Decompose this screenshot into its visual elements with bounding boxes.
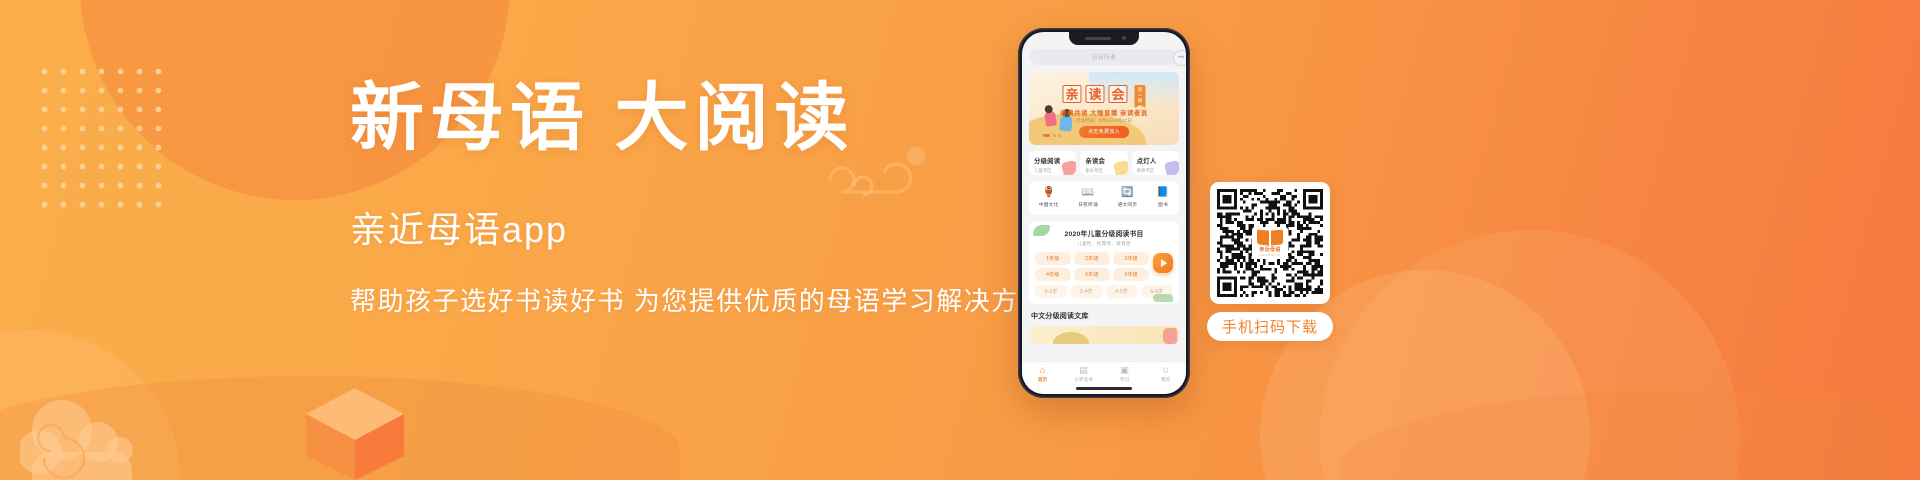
app-name: 亲近母语app (350, 201, 1010, 253)
list-icon: ▤ (1079, 366, 1088, 375)
qr-code[interactable]: 亲近母语 QIN JIN MU YU (1210, 182, 1330, 304)
sync-icon: 🔄 (1121, 188, 1133, 198)
brand-logo-icon: 亲近母语 QIN JIN MU YU (1252, 227, 1288, 259)
hero-date: 活动时间：9月6日-9月27日 (1076, 118, 1132, 124)
hero-banner[interactable]: 亲 读 会 第一期 经典共读 大咖直播 亲读者说 活动时间：9月6日-9月27日… (1029, 72, 1179, 145)
promo-banner: 新母语 大阅读 亲近母语app 帮助孩子选好书读好书 为您提供优质的母语学习解决… (0, 0, 1920, 480)
phone-screen: 日有所诵 ••• 亲 读 会 第一期 经典共读 大咖直播 亲读者说 活动时间：9… (1022, 32, 1186, 394)
hero-title-char: 亲 (1062, 85, 1081, 103)
age-chip[interactable]: 4-5岁 (1106, 285, 1138, 298)
home-icon: ⌂ (1040, 366, 1045, 375)
brand-name: 亲近母语 (1259, 246, 1280, 253)
hero-flag-badge: 第一期 (1135, 85, 1146, 108)
decor-hill-left (0, 376, 680, 480)
leaf-decor-icon (1153, 294, 1173, 302)
download-button[interactable]: 手机扫码下载 (1207, 312, 1333, 341)
books-icon: 📘 (1157, 188, 1169, 198)
quick-nav-label: 图书 (1158, 201, 1168, 208)
isometric-cube-icon (300, 384, 410, 480)
hero-child-figure (1059, 115, 1072, 132)
category-card-row: 分级阅读 儿童专区 亲读会 家长专区 点灯人 教师专区 (1029, 151, 1179, 175)
quick-nav-row: 🏺 中国文化 📖 日有所诵 🔄 语文同步 📘 图书 (1029, 181, 1179, 215)
page-title: 新母语 大阅读 (350, 78, 1010, 161)
grade-chip[interactable]: 1年级 (1035, 252, 1071, 265)
booklist-subtitle: 儿童性、经典性、教育性 (1035, 241, 1173, 247)
tab-profile[interactable]: ☺ 我的 (1145, 366, 1186, 383)
tab-study[interactable]: ▣ 学习 (1104, 366, 1145, 383)
grade-chip[interactable]: 2年级 (1074, 252, 1110, 265)
search-placeholder: 日有所诵 (1092, 53, 1116, 61)
decor-circle-right (1320, 230, 1740, 480)
tab-home[interactable]: ⌂ 首页 (1022, 366, 1063, 383)
tab-reading[interactable]: ▤ 小步读书 (1063, 366, 1104, 383)
decor-dot-grid (35, 62, 175, 212)
banner-copy: 新母语 大阅读 亲近母语app 帮助孩子选好书读好书 为您提供优质的母语学习解决… (350, 78, 1010, 318)
library-card[interactable] (1029, 326, 1179, 344)
decor-circle-bottom-left (0, 330, 180, 480)
quick-nav-label: 语文同步 (1117, 201, 1137, 208)
category-card-art (1061, 159, 1076, 175)
tab-label: 学习 (1120, 377, 1129, 383)
hero-title-char: 读 (1085, 85, 1104, 103)
category-card[interactable]: 亲读会 家长专区 (1080, 151, 1127, 175)
phone-notch (1069, 32, 1139, 45)
banner-tagline: 帮助孩子选好书读好书 为您提供优质的母语学习解决方案 (350, 281, 1010, 318)
library-card-art (1053, 332, 1089, 344)
quick-nav-item-recite[interactable]: 📖 日有所诵 (1078, 188, 1098, 208)
quick-nav-item-culture[interactable]: 🏺 中国文化 (1039, 188, 1059, 208)
grade-chip[interactable]: 5年级 (1074, 268, 1110, 281)
hero-join-button[interactable]: 点击免费加入 (1079, 126, 1129, 138)
grade-chip[interactable]: 4年级 (1035, 268, 1071, 281)
age-chip[interactable]: 0-3岁 (1035, 285, 1067, 298)
play-video-icon[interactable] (1153, 253, 1173, 273)
auspicious-cloud-icon (20, 378, 170, 480)
hero-title: 亲 读 会 第一期 (1062, 85, 1145, 108)
hero-subtitle: 经典共读 大咖直播 亲读者说 (1060, 108, 1147, 117)
quick-nav-item-books[interactable]: 📘 图书 (1157, 188, 1169, 208)
grade-chip[interactable]: 3年级 (1113, 252, 1149, 265)
hero-child-figure (1044, 110, 1057, 126)
library-section-title: 中文分级阅读文库 (1031, 311, 1179, 321)
tab-label: 我的 (1161, 377, 1170, 383)
decor-hill-right (1340, 390, 1920, 480)
quick-nav-item-sync[interactable]: 🔄 语文同步 (1117, 188, 1137, 208)
category-card[interactable]: 点灯人 教师专区 (1132, 151, 1179, 175)
phone-mockup: 日有所诵 ••• 亲 读 会 第一期 经典共读 大咖直播 亲读者说 活动时间：9… (1018, 28, 1190, 398)
tab-label: 小步读书 (1074, 377, 1092, 383)
home-indicator (1076, 387, 1132, 390)
open-book-mark (1257, 230, 1283, 245)
tab-label: 首页 (1038, 377, 1047, 383)
grade-chip[interactable]: 6年级 (1113, 268, 1149, 281)
brand-name-pinyin: QIN JIN MU YU (1260, 254, 1281, 257)
age-chip[interactable]: 3-4岁 (1070, 285, 1102, 298)
grade-chip-grid: 1年级 2年级 3年级 4年级 5年级 6年级 (1035, 252, 1173, 282)
qr-canvas: 亲近母语 QIN JIN MU YU (1217, 189, 1323, 297)
quick-nav-label: 日有所诵 (1078, 201, 1098, 208)
library-card-art (1163, 328, 1177, 344)
more-icon[interactable]: ••• (1173, 50, 1186, 66)
hero-title-char: 会 (1109, 85, 1128, 103)
category-card-art (1164, 159, 1179, 175)
carousel-dots[interactable] (1043, 134, 1061, 137)
clipboard-icon: ▣ (1120, 366, 1129, 375)
category-card[interactable]: 分级阅读 儿童专区 (1029, 151, 1076, 175)
quick-nav-label: 中国文化 (1039, 201, 1059, 208)
vase-icon: 🏺 (1042, 188, 1054, 198)
search-input[interactable]: 日有所诵 ••• (1030, 49, 1178, 65)
booklist-title: 2020年儿童分级阅读书目 (1035, 228, 1173, 238)
booklist-section: 2020年儿童分级阅读书目 儿童性、经典性、教育性 1年级 2年级 3年级 4年… (1029, 221, 1179, 304)
person-icon: ☺ (1161, 366, 1170, 375)
book-open-icon: 📖 (1082, 188, 1094, 198)
